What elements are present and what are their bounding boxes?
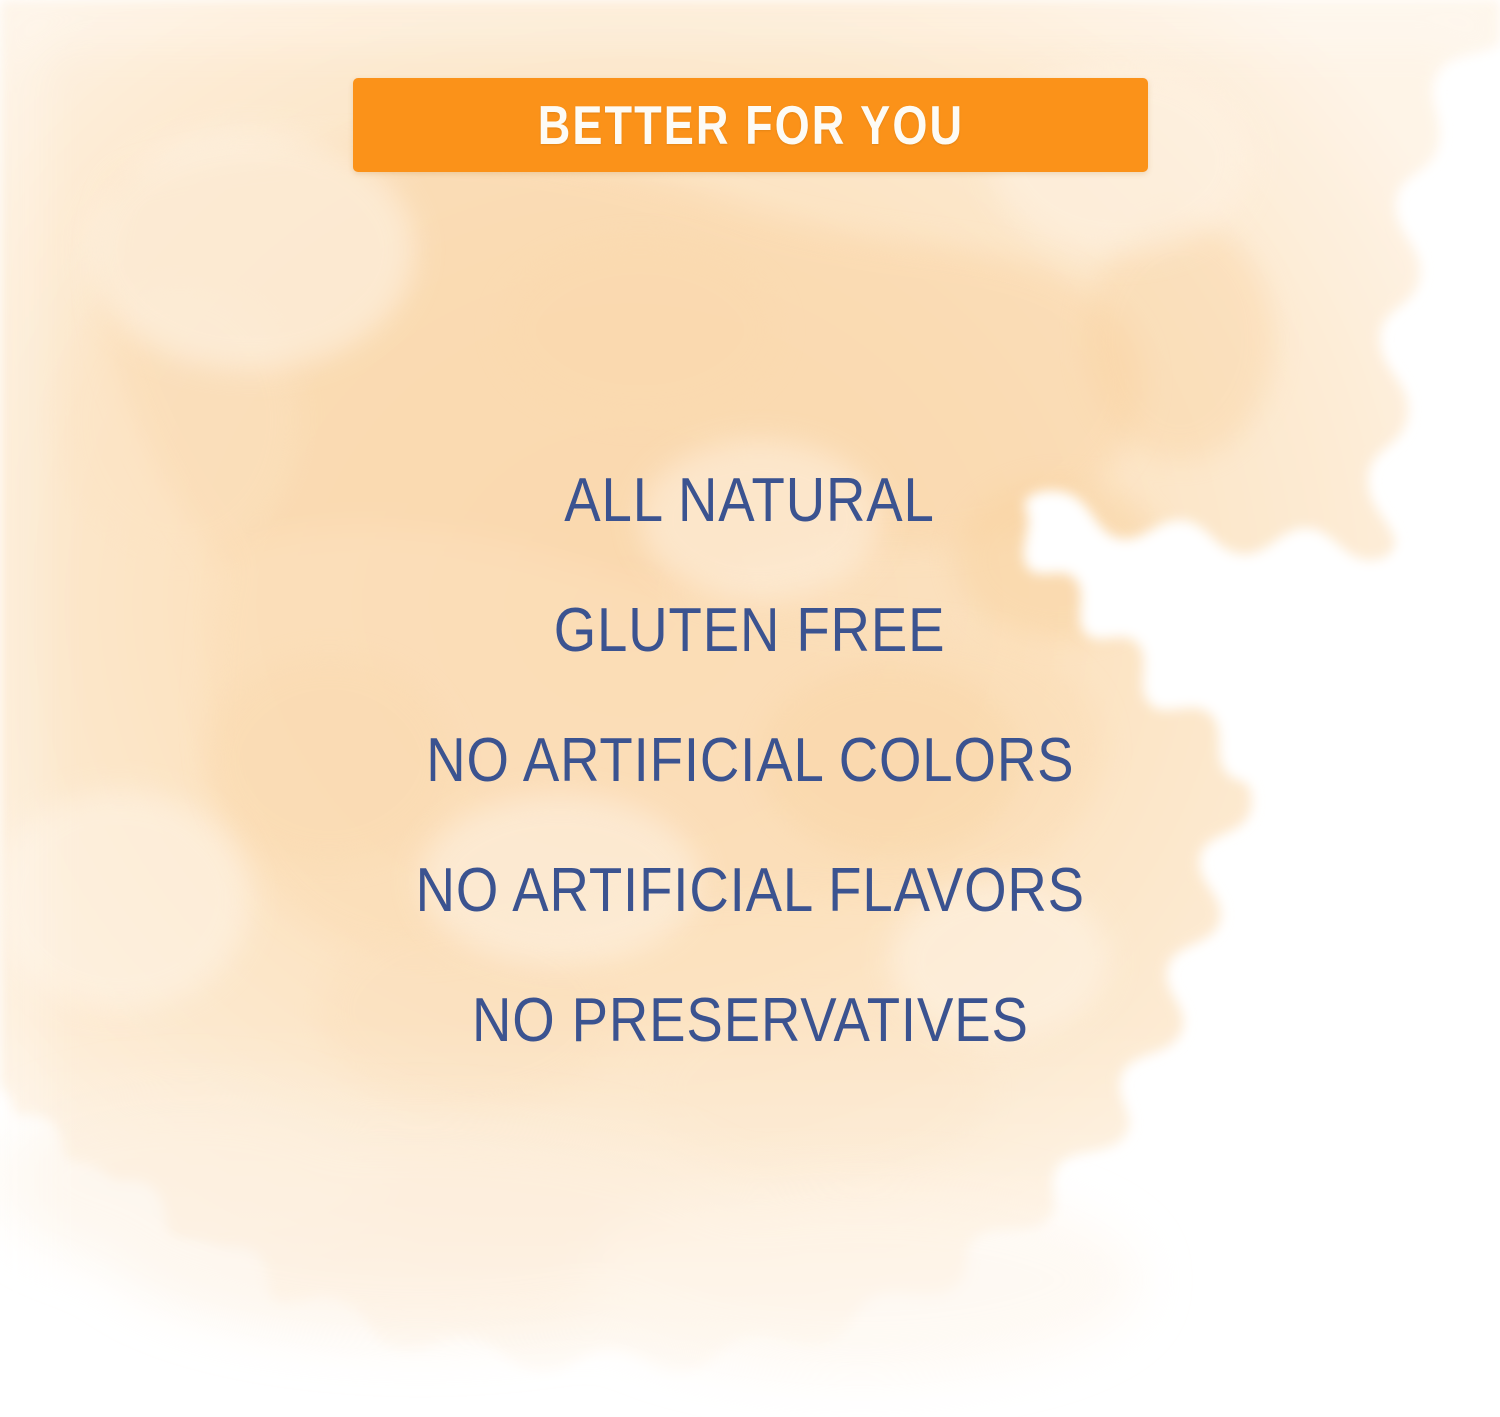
claim-gluten-free: GLUTEN FREE xyxy=(554,600,946,662)
list-item: NO ARTIFICIAL FLAVORS xyxy=(0,826,1500,956)
claim-all-natural: ALL NATURAL xyxy=(565,470,936,532)
better-for-you-banner: BETTER FOR YOU xyxy=(353,78,1148,172)
product-claims-panel: BETTER FOR YOU ALL NATURAL GLUTEN FREE N… xyxy=(0,0,1500,1417)
claim-no-artificial-colors: NO ARTIFICIAL COLORS xyxy=(426,730,1074,792)
claims-list: ALL NATURAL GLUTEN FREE NO ARTIFICIAL CO… xyxy=(0,436,1500,1086)
banner-label: BETTER FOR YOU xyxy=(537,98,963,153)
list-item: NO ARTIFICIAL COLORS xyxy=(0,696,1500,826)
list-item: NO PRESERVATIVES xyxy=(0,956,1500,1086)
claim-no-preservatives: NO PRESERVATIVES xyxy=(472,990,1029,1052)
list-item: ALL NATURAL xyxy=(0,436,1500,566)
list-item: GLUTEN FREE xyxy=(0,566,1500,696)
claim-no-artificial-flavors: NO ARTIFICIAL FLAVORS xyxy=(415,860,1084,922)
